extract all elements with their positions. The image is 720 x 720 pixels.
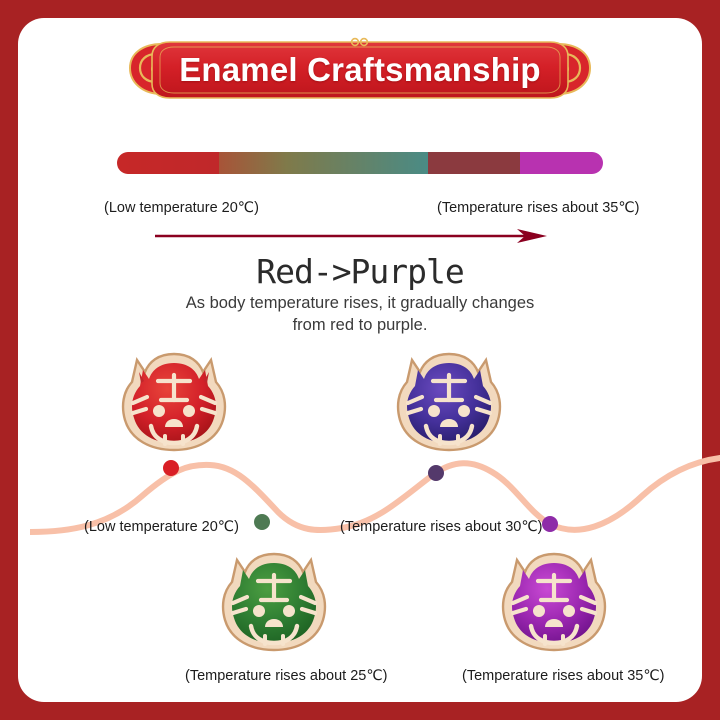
gradient-segment-maroon (428, 152, 520, 174)
headline-text: Red->Purple (0, 252, 720, 291)
gradient-segment-olive-to-teal (287, 152, 428, 174)
curve-label-20c: (Low temperature 20℃) (84, 519, 239, 535)
description-line-2: from red to purple. (0, 314, 720, 336)
tiger-pin-magenta[interactable] (493, 548, 615, 661)
tiger-body (503, 554, 605, 650)
description-line-1: As body temperature rises, it gradually … (0, 292, 720, 314)
curve-label-35c: (Temperature rises about 35℃) (462, 668, 664, 684)
direction-arrow (155, 228, 547, 250)
infographic-page: Enamel Craftsmanship (Low temperature 20… (0, 0, 720, 720)
gradient-segment-red-to-olive (219, 152, 287, 174)
tiger-body (398, 354, 500, 450)
tiger-pin-green[interactable] (213, 548, 335, 661)
curve-point-magenta-dot-icon (542, 516, 558, 532)
tiger-pin-red[interactable] (113, 348, 235, 461)
tiger-pin-purple-icon (388, 348, 510, 456)
curve-point-green-dot-icon (254, 514, 270, 530)
arrow-icon (155, 228, 547, 250)
title-banner: Enamel Craftsmanship (122, 34, 598, 106)
curve-point-darkpurple-dot-icon (428, 465, 444, 481)
gradient-left-label: (Low temperature 20℃) (104, 200, 259, 216)
curve-point-red-dot-icon (163, 460, 179, 476)
tiger-body (123, 354, 225, 450)
gradient-segment-red (117, 152, 219, 174)
curve-label-25c: (Temperature rises about 25℃) (185, 668, 387, 684)
tiger-pin-red-icon (113, 348, 235, 456)
temperature-gradient-bar (117, 152, 603, 174)
banner-title: Enamel Craftsmanship (122, 34, 598, 106)
tiger-pin-magenta-icon (493, 548, 615, 656)
curve-label-30c: (Temperature rises about 30℃) (340, 519, 542, 535)
tiger-pin-purple[interactable] (388, 348, 510, 461)
tiger-pin-green-icon (213, 548, 335, 656)
tiger-body (223, 554, 325, 650)
gradient-segment-magenta (520, 152, 603, 174)
gradient-right-label: (Temperature rises about 35℃) (437, 200, 639, 216)
description-text: As body temperature rises, it gradually … (0, 292, 720, 336)
